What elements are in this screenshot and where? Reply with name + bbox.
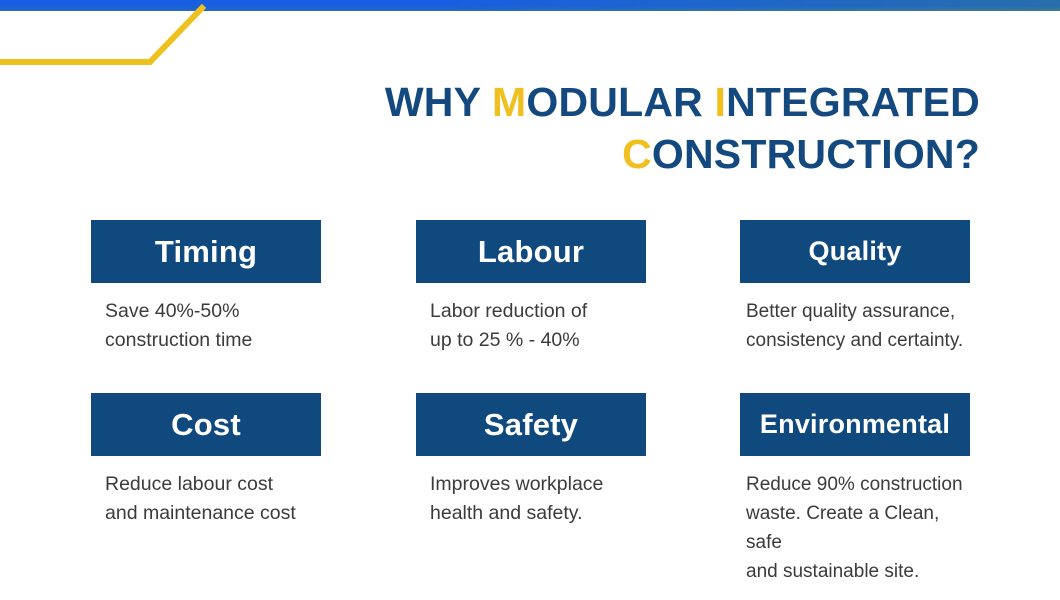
benefit-card-timing: Timing Save 40%-50% construction time (91, 220, 321, 355)
card-body-safety: Improves workplace health and safety. (416, 470, 646, 528)
card-heading-cost: Cost (91, 393, 321, 456)
card-body-cost: Reduce labour cost and maintenance cost (91, 470, 321, 528)
card-heading-timing: Timing (91, 220, 321, 283)
card-heading-safety: Safety (416, 393, 646, 456)
benefit-card-safety: Safety Improves workplace health and saf… (416, 393, 646, 528)
benefit-card-environmental: Environmental Reduce 90% construction wa… (740, 393, 970, 586)
card-body-timing: Save 40%-50% construction time (91, 297, 321, 355)
card-body-labour: Labor reduction of up to 25 % - 40% (416, 297, 646, 355)
benefit-card-grid: Timing Save 40%-50% construction time La… (0, 0, 1060, 600)
slide-canvas: WHY MODULAR INTEGRATED CONSTRUCTION? Tim… (0, 0, 1060, 600)
card-heading-environmental: Environmental (740, 393, 970, 456)
benefit-card-quality: Quality Better quality assurance, consis… (740, 220, 970, 355)
benefit-card-cost: Cost Reduce labour cost and maintenance … (91, 393, 321, 528)
card-heading-labour: Labour (416, 220, 646, 283)
card-heading-quality: Quality (740, 220, 970, 283)
benefit-card-labour: Labour Labor reduction of up to 25 % - 4… (416, 220, 646, 355)
card-body-environmental: Reduce 90% construction waste. Create a … (740, 470, 970, 586)
card-body-quality: Better quality assurance, consistency an… (740, 297, 970, 355)
